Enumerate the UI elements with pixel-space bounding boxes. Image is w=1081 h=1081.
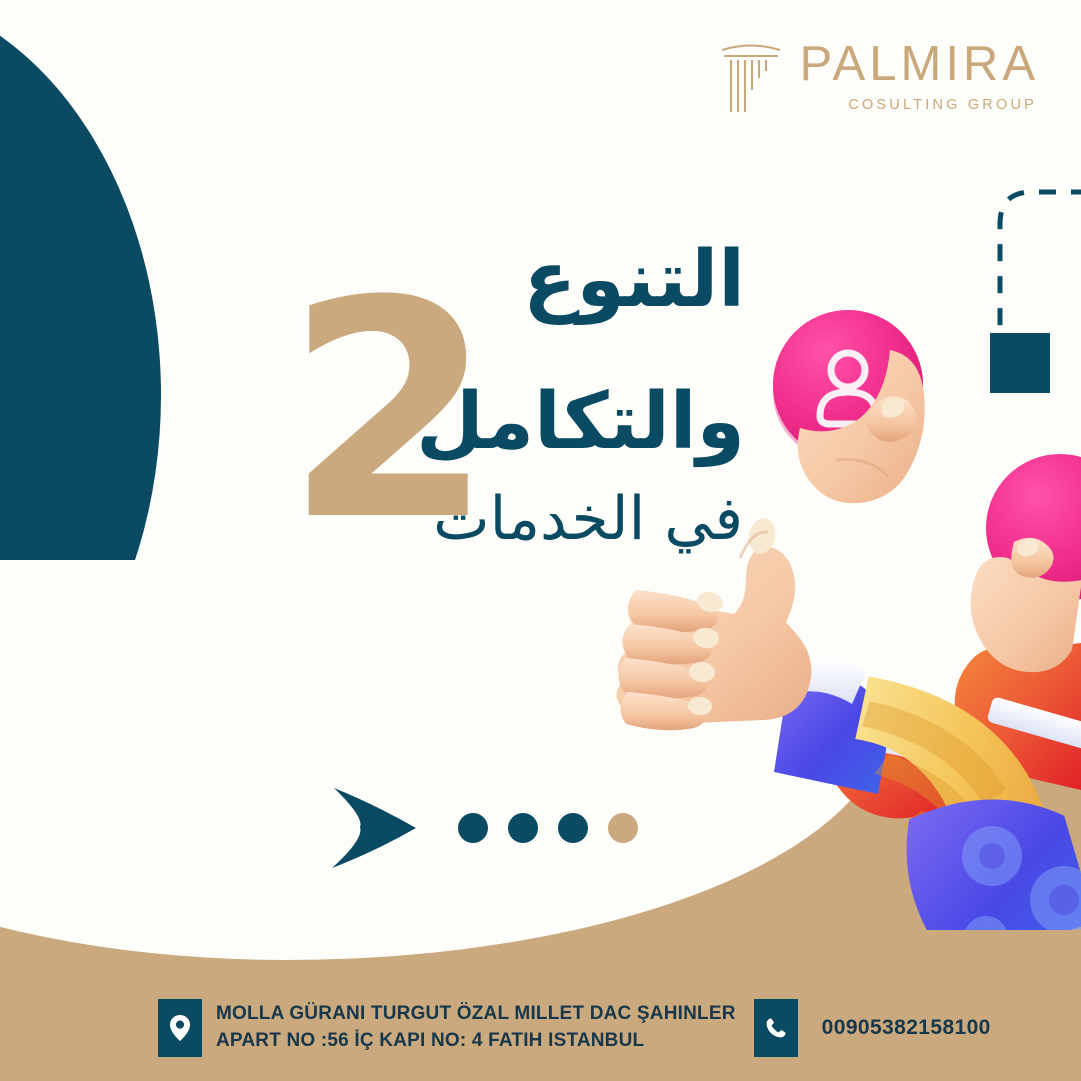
pagination-dot[interactable] — [558, 813, 588, 843]
pagination-dot[interactable] — [458, 813, 488, 843]
location-pin-icon — [158, 999, 202, 1057]
contact-footer: MOLLA GÜRANI TURGUT ÖZAL MILLET DAC ŞAHI… — [0, 975, 1081, 1081]
phone-number: 00905382158100 — [822, 1016, 991, 1040]
brand-logo: PALMIRA COSULTING GROUP — [718, 38, 1039, 114]
pagination-dot-active[interactable] — [608, 813, 638, 843]
phone-handset-icon — [754, 999, 798, 1057]
swipe-arrow-right-icon[interactable] — [330, 785, 418, 871]
hand-thumbs-up-group — [616, 515, 887, 794]
address-text: MOLLA GÜRANI TURGUT ÖZAL MILLET DAC ŞAHI… — [216, 1001, 736, 1055]
column-pillar-icon — [718, 38, 784, 114]
hands-illustration — [590, 290, 1081, 930]
swipe-indicator[interactable] — [330, 785, 638, 871]
pagination-dot[interactable] — [508, 813, 538, 843]
pagination-dots[interactable] — [458, 813, 638, 843]
brand-tagline: COSULTING GROUP — [848, 98, 1039, 113]
phone-group[interactable]: 00905382158100 — [754, 999, 991, 1057]
address-group: MOLLA GÜRANI TURGUT ÖZAL MILLET DAC ŞAHI… — [158, 999, 736, 1057]
brand-name: PALMIRA — [800, 40, 1039, 89]
social-media-post: 2 التنوع والتكامل في الخدمات — [0, 0, 1081, 1081]
